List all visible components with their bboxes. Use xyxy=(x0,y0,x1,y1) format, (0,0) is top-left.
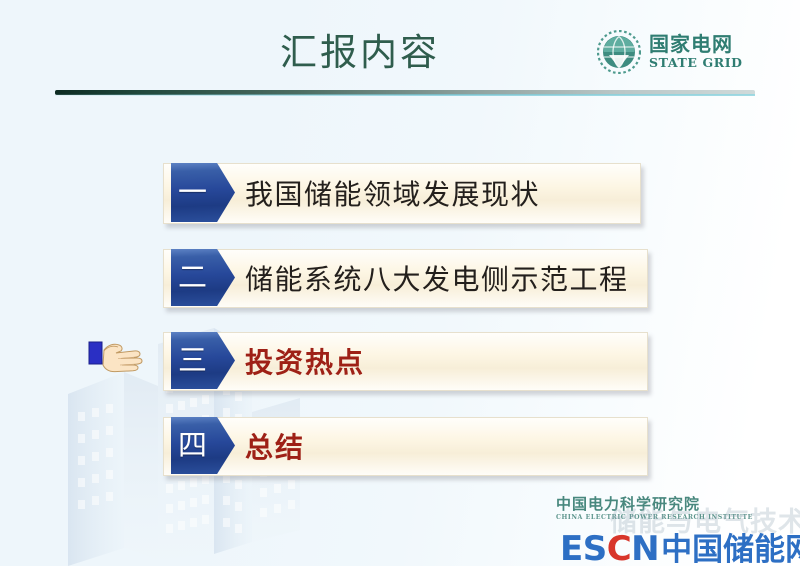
agenda-item-4-label: 总结 xyxy=(245,417,305,474)
agenda-item-3-box xyxy=(163,332,648,391)
slide-canvas: 汇报内容 国家电网 STATE GRID 一 我国储能领域发展现状 xyxy=(0,0,800,566)
escn-text-es: ES xyxy=(560,529,607,566)
agenda-item-2-label: 储能系统八大发电侧示范工程 xyxy=(245,249,629,306)
agenda-item-4[interactable]: 四 总结 xyxy=(163,417,646,474)
pointing-hand-icon xyxy=(88,336,154,376)
escn-text-n: N xyxy=(631,529,659,566)
agenda-item-3-label: 投资热点 xyxy=(245,332,365,389)
escn-text-c: C xyxy=(607,529,631,566)
agenda-item-3[interactable]: 三 投资热点 xyxy=(163,332,646,389)
agenda-item-2-number: 二 xyxy=(171,263,207,292)
agenda-item-2[interactable]: 二 储能系统八大发电侧示范工程 xyxy=(163,249,646,306)
agenda-item-4-number: 四 xyxy=(171,431,207,460)
escn-text-cn: 中国储能网 xyxy=(661,524,800,566)
agenda-item-1-label: 我国储能领域发展现状 xyxy=(245,163,540,222)
escn-watermark: ES C N 中国储能网 xyxy=(560,524,800,566)
agenda-item-4-box xyxy=(163,417,648,476)
agenda-item-1-number: 一 xyxy=(171,178,207,207)
agenda-list: 一 我国储能领域发展现状 二 储能系统八大发电侧示范工程 三 投资热点 四 总结 xyxy=(0,0,800,566)
agenda-item-1[interactable]: 一 我国储能领域发展现状 xyxy=(163,163,639,222)
agenda-item-3-number: 三 xyxy=(171,346,207,375)
